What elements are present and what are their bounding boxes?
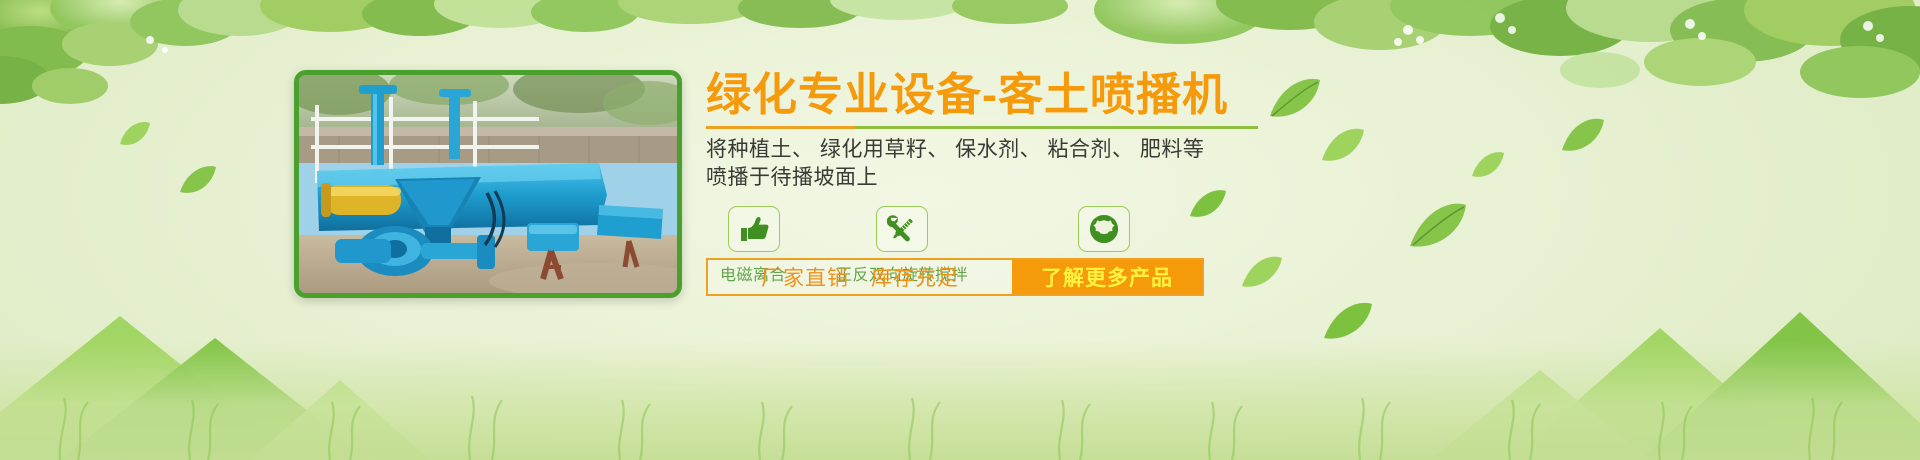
leaf-icon: [1322, 300, 1374, 344]
tools-icon: [887, 214, 917, 244]
cta-tag-factory-direct: 厂家直销: [761, 262, 849, 292]
subtitle-line-1: 将种植土、 绿化用草籽、 保水剂、 粘合剂、 肥料等: [706, 136, 1286, 164]
page-title: 绿化专业设备-客土喷播机: [706, 68, 1286, 122]
leaf-icon: [118, 120, 152, 150]
promo-banner: 绿化专业设备-客土喷播机 将种植土、 绿化用草籽、 保水剂、 粘合剂、 肥料等 …: [0, 0, 1920, 460]
leaf-icon: [1560, 116, 1606, 156]
product-photo[interactable]: [294, 70, 682, 298]
leaf-icon: [1470, 150, 1506, 182]
subtitle-line-2: 喷播于待播坡面上: [706, 164, 1286, 192]
leaf-icon: [1408, 200, 1468, 252]
feature-icon-box: [876, 206, 928, 252]
cta-tag-stock: 库存充足: [871, 262, 959, 292]
gear-icon: [1089, 214, 1119, 244]
cta-tags: 厂家直销 库存充足: [708, 260, 1012, 294]
cta-bar: 厂家直销 库存充足 了解更多产品: [706, 258, 1204, 296]
leaf-icon: [1320, 126, 1366, 166]
feature-icon-box: [728, 206, 780, 252]
leaf-icon: [178, 164, 218, 198]
title-divider: [706, 126, 1258, 129]
feature-icon-box: [1078, 206, 1130, 252]
learn-more-button[interactable]: 了解更多产品: [1012, 260, 1202, 294]
grass-strip: [0, 340, 1920, 460]
thumbs-up-icon: [739, 215, 769, 243]
product-photo-image: [299, 75, 677, 293]
grass-svg: [0, 340, 1920, 460]
